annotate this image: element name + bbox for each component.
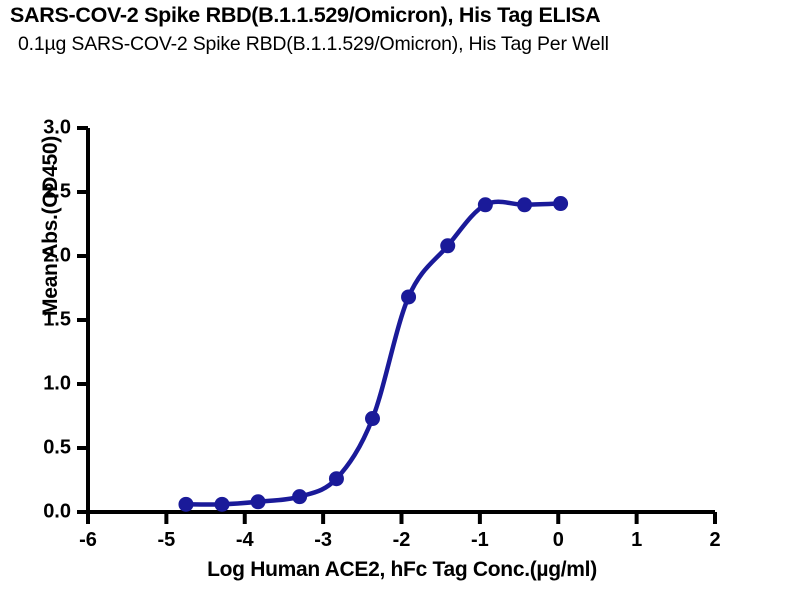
axis-lines (77, 128, 715, 524)
x-tick-label-3: -3 (314, 529, 332, 552)
plot-area (0, 0, 800, 600)
x-tick-label-7: 1 (631, 529, 642, 552)
data-point (329, 471, 344, 486)
y-tick-label-6: 3.0 (43, 117, 71, 140)
y-tick-label-4: 2.0 (43, 245, 71, 268)
x-tick-label-6: 0 (553, 529, 564, 552)
data-point (215, 497, 230, 512)
y-tick-label-2: 1.0 (43, 373, 71, 396)
data-point (401, 289, 416, 304)
x-tick-label-8: 2 (709, 529, 720, 552)
data-point (553, 196, 568, 211)
data-point (478, 197, 493, 212)
x-tick-label-0: -6 (79, 529, 97, 552)
y-tick-label-3: 1.5 (43, 309, 71, 332)
data-point (251, 494, 266, 509)
y-tick-label-5: 2.5 (43, 181, 71, 204)
data-point (292, 489, 307, 504)
x-tick-label-5: -1 (471, 529, 489, 552)
x-tick-label-2: -4 (236, 529, 254, 552)
fit-curve (186, 202, 561, 505)
y-tick-label-1: 0.5 (43, 437, 71, 460)
data-point (178, 497, 193, 512)
x-tick-label-1: -5 (157, 529, 175, 552)
data-points (178, 196, 568, 512)
y-tick-label-0: 0.0 (43, 501, 71, 524)
data-point (440, 238, 455, 253)
data-point (517, 197, 532, 212)
x-tick-label-4: -2 (393, 529, 411, 552)
elisa-chart: SARS-COV-2 Spike RBD(B.1.1.529/Omicron),… (0, 0, 800, 600)
data-point (365, 411, 380, 426)
